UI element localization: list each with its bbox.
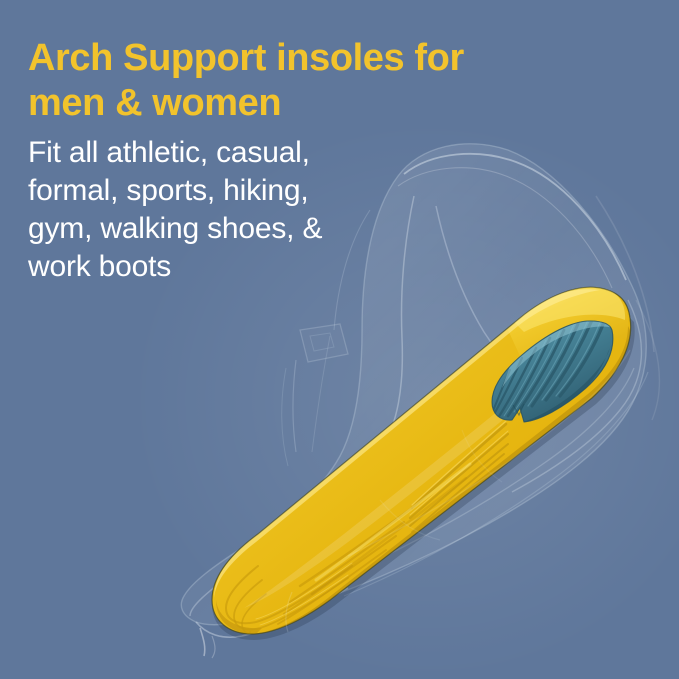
product-illustration: [0, 0, 679, 679]
product-image-canvas: Arch Support insoles for men & women Fit…: [0, 0, 679, 679]
